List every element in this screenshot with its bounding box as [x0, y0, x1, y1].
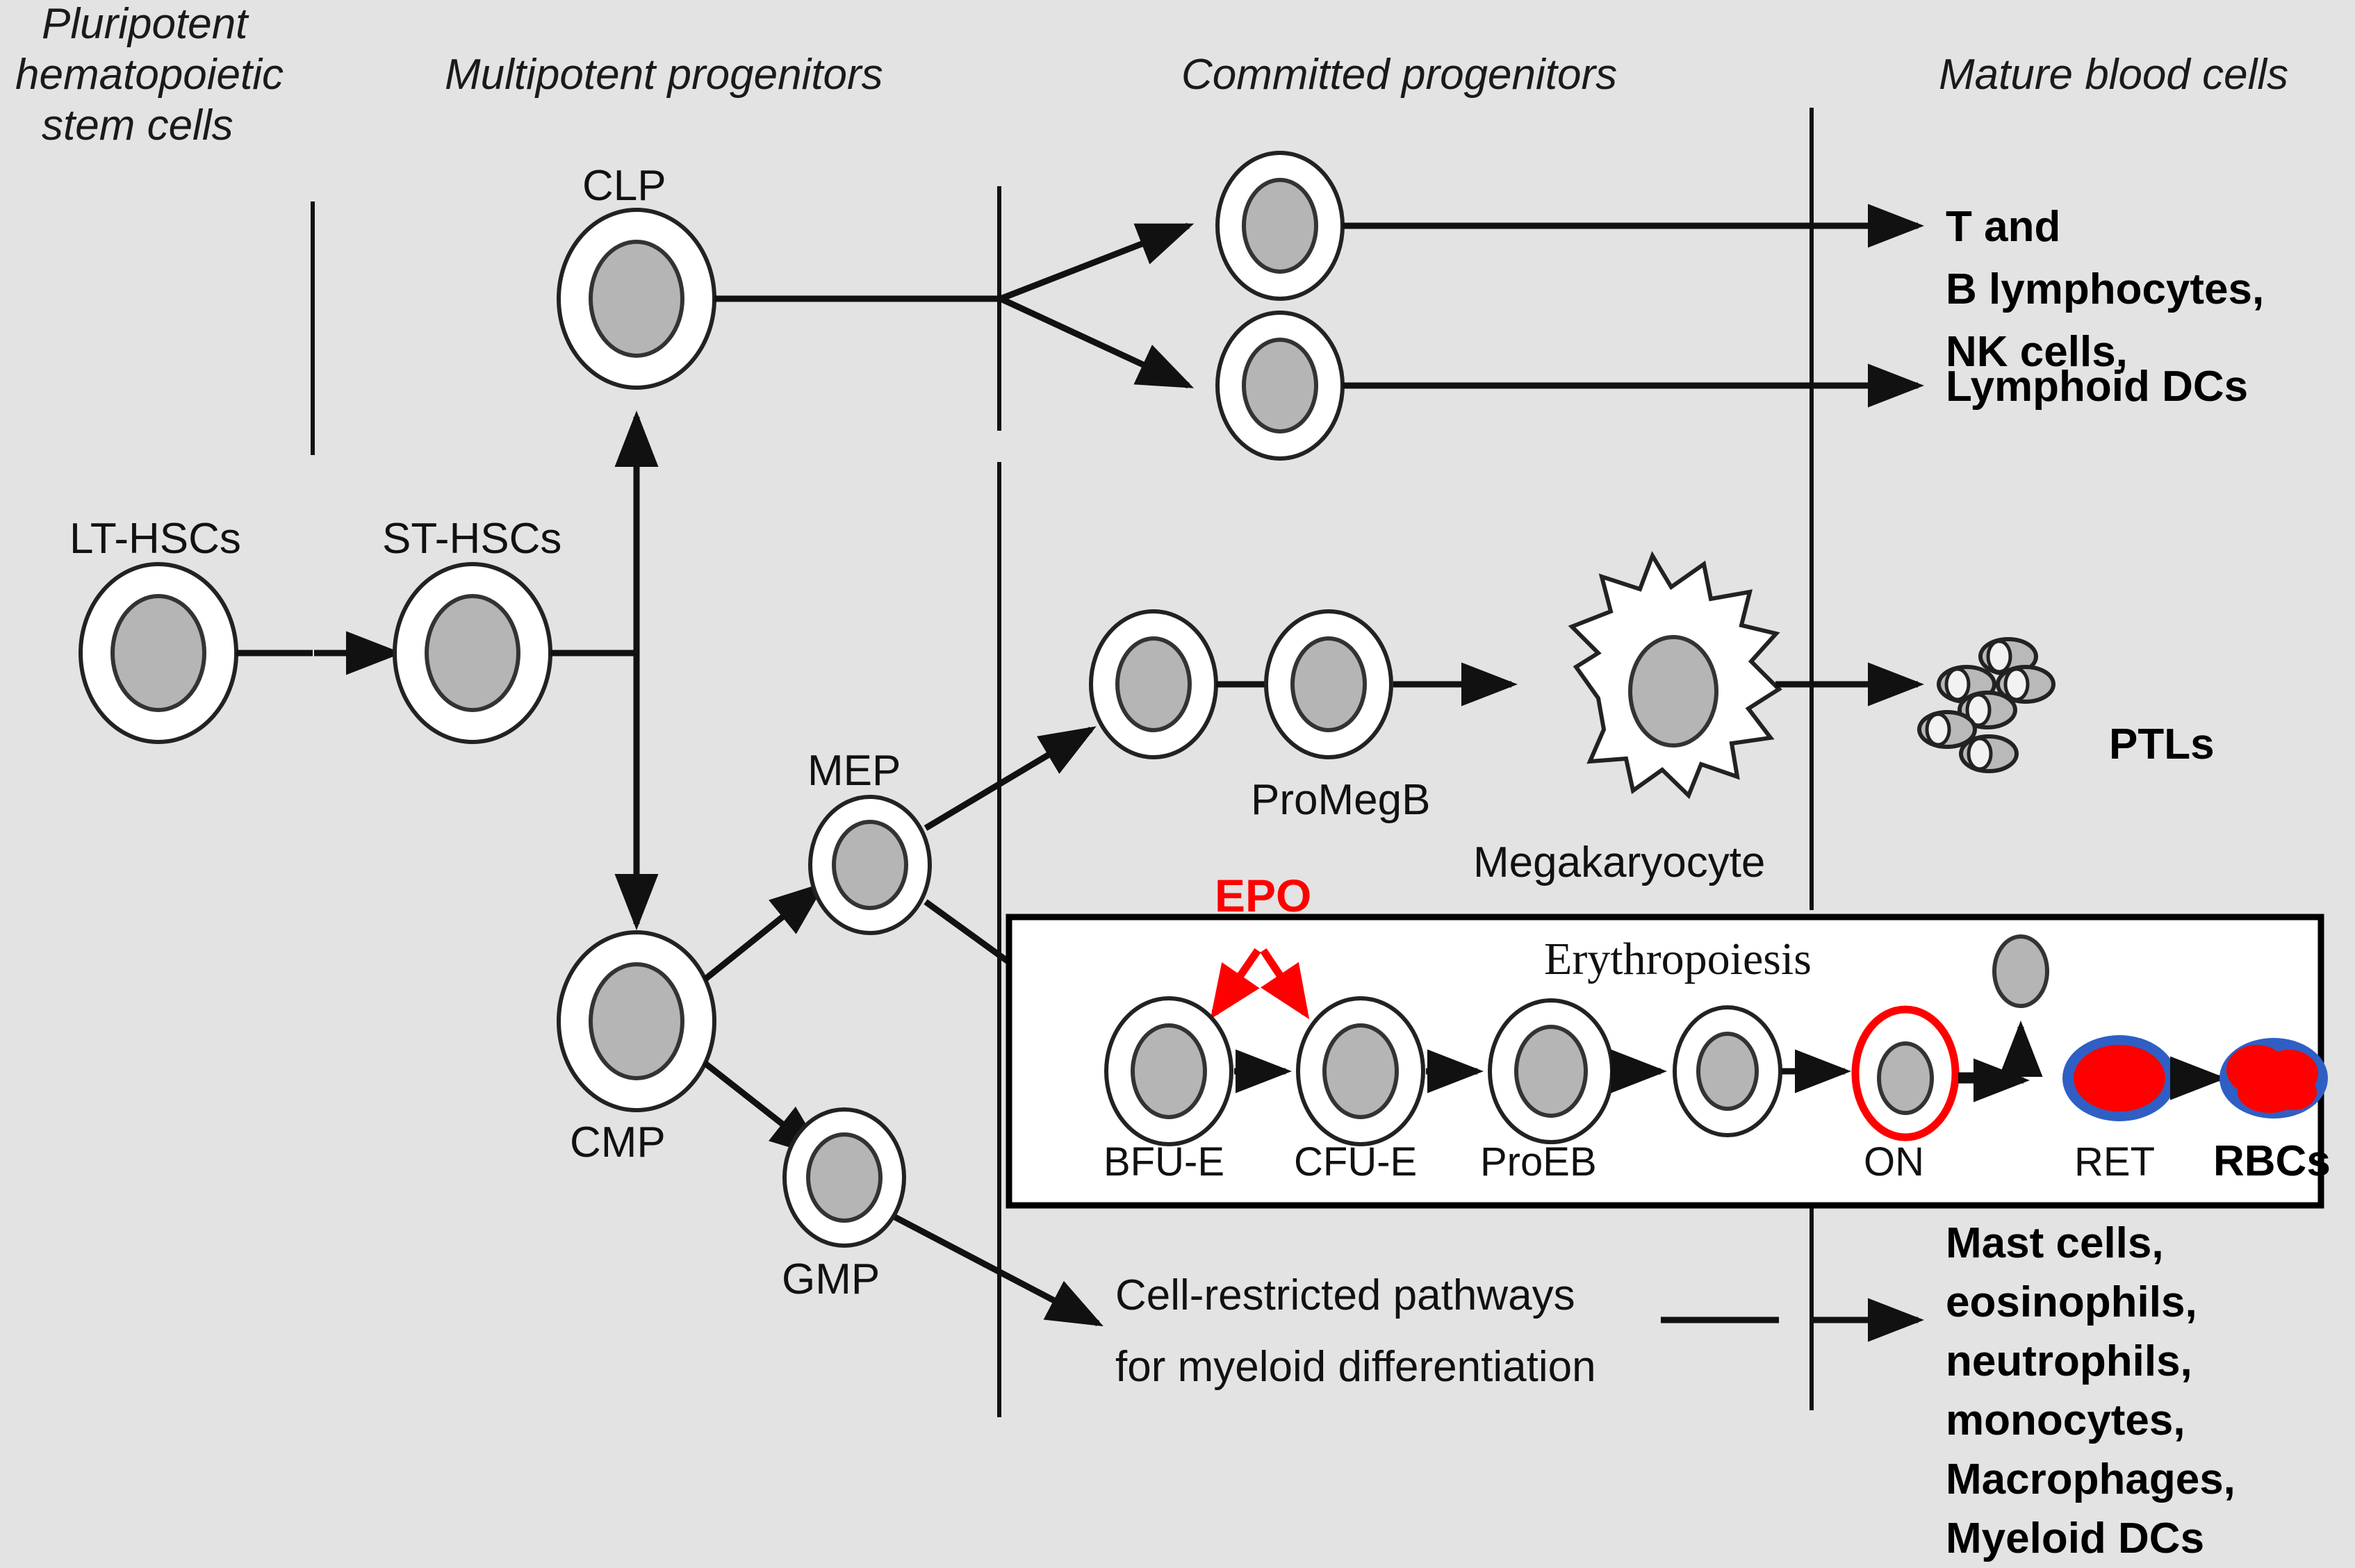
cell-label-cmp: CMP — [570, 1119, 666, 1166]
cell-lt-hsc — [81, 564, 236, 742]
erythropoiesis-label: Erythropoiesis — [1544, 934, 1812, 984]
cell-cmp — [559, 932, 714, 1110]
cell-lymphoid-progenitor-upper — [1217, 153, 1343, 299]
myeloid-pathway-line1: Cell-restricted pathways — [1115, 1271, 1575, 1319]
cell-label-promegb: ProMegB — [1251, 776, 1430, 824]
cell-label-bfu-e: BFU-E — [1103, 1139, 1224, 1185]
cell-promegb — [1266, 611, 1391, 757]
cell-bfu-e — [1106, 998, 1231, 1144]
output-myeloid-line: eosinophils, — [1946, 1278, 2197, 1326]
output-myeloid-line: Myeloid DCs — [1946, 1515, 2204, 1562]
cell-label-megakaryocyte: Megakaryocyte — [1473, 839, 1765, 886]
cell-st-hsc — [395, 564, 550, 742]
cell-mep — [810, 797, 930, 933]
cell-label-lt-hsc: LT-HSCs — [69, 515, 241, 563]
cell-rbcs — [2219, 1038, 2328, 1119]
output-myeloid-line: neutrophils, — [1946, 1337, 2192, 1385]
stage-header-line: stem cells — [42, 101, 233, 149]
stage-header-line: Pluripotent — [42, 0, 249, 48]
stage-header-multipotent: Multipotent progenitors — [445, 51, 883, 99]
cell-label-mep: MEP — [807, 747, 901, 795]
cell-label-on: ON — [1864, 1139, 1924, 1185]
cell-label-proeb: ProEB — [1480, 1139, 1597, 1185]
output-myeloid-line: Macrophages, — [1946, 1455, 2235, 1503]
cell-clp — [559, 210, 714, 388]
platelet — [1961, 736, 2017, 771]
cell-on — [1855, 1009, 1955, 1137]
output-label-ptls: PTLs — [2109, 720, 2215, 768]
cell-megakaryoblast — [1091, 611, 1216, 757]
cell-label-clp: CLP — [582, 162, 666, 210]
stage-header-line: hematopoietic — [15, 51, 284, 99]
cell-label-rbcs: RBCs — [2213, 1137, 2331, 1185]
extruded-nucleus — [1994, 936, 2047, 1006]
stage-header-committed: Committed progenitors — [1181, 51, 1617, 99]
output-lymphoid-line: Lymphoid DCs — [1946, 363, 2248, 411]
stage-header-mature: Mature blood cells — [1939, 51, 2288, 99]
cell-ret — [2062, 1035, 2176, 1121]
cell-lymphoid-progenitor-lower — [1217, 313, 1343, 459]
cell-label-cfu-e: CFU-E — [1294, 1139, 1417, 1185]
cell-label-ret: RET — [2074, 1139, 2155, 1185]
cell-late-erythroblast — [1675, 1007, 1780, 1135]
cell-gmp — [785, 1109, 904, 1246]
output-myeloid-line: monocytes, — [1946, 1396, 2185, 1444]
myeloid-pathway-line2: for myeloid differentiation — [1115, 1343, 1596, 1391]
hematopoiesis-diagram: Pluripotent hematopoietic stem cells Mul… — [0, 0, 2355, 1568]
cell-label-gmp: GMP — [782, 1255, 880, 1303]
output-lymphoid-line: B lymphocytes, — [1946, 265, 2264, 313]
epo-label: EPO — [1215, 870, 1311, 921]
output-lymphoid-line: T and — [1946, 203, 2060, 251]
output-myeloid-line: Mast cells, — [1946, 1219, 2164, 1267]
cell-label-st-hsc: ST-HSCs — [382, 515, 561, 563]
cell-cfu-e — [1298, 998, 1423, 1144]
cell-proeb — [1490, 1000, 1612, 1142]
